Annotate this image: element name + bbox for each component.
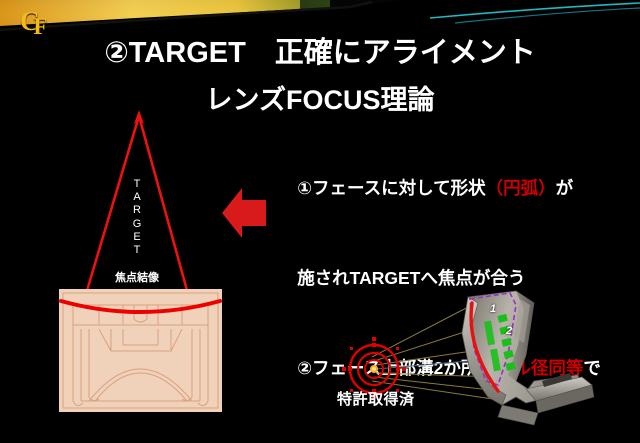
focus-caption: 焦点結像 — [81, 269, 193, 285]
marker-2-label: 2 — [506, 325, 512, 337]
club-render-diagram: 1 2 特許取得済 — [320, 285, 640, 443]
target-letter-0: T — [127, 178, 147, 191]
target-letter-4: E — [127, 231, 147, 244]
target-letter-2: R — [127, 204, 147, 217]
focus-cone-diagram: T A R G E T 焦点結像 — [55, 108, 230, 418]
page-title-line1: ②TARGET 正確にアライメント — [0, 29, 640, 71]
patent-label: 特許取得済 — [337, 388, 415, 409]
club-face-drawing — [59, 289, 222, 412]
body-line-1: ①フェースに対して形状（円弧）が — [268, 143, 638, 233]
marker-1-label: 1 — [490, 303, 496, 315]
body-line-1-seg-2: （円弧） — [486, 178, 556, 198]
target-letter-5: T — [127, 244, 147, 257]
club-render-graphic — [320, 285, 640, 443]
left-arrow-icon — [222, 182, 266, 244]
club-face-drawing-panel — [59, 289, 222, 412]
target-letter-1: A — [127, 191, 147, 204]
body-line-1-seg-3: が — [556, 178, 574, 198]
target-letter-3: G — [127, 218, 147, 231]
left-arrow — [222, 182, 266, 244]
body-line-1-seg-1: ①フェースに対して形状 — [297, 178, 485, 198]
target-vertical-label: T A R G E T — [127, 178, 147, 257]
slide-root: CF ②TARGET 正確にアライメント レンズFOCUS理論 T A R G … — [0, 0, 640, 443]
